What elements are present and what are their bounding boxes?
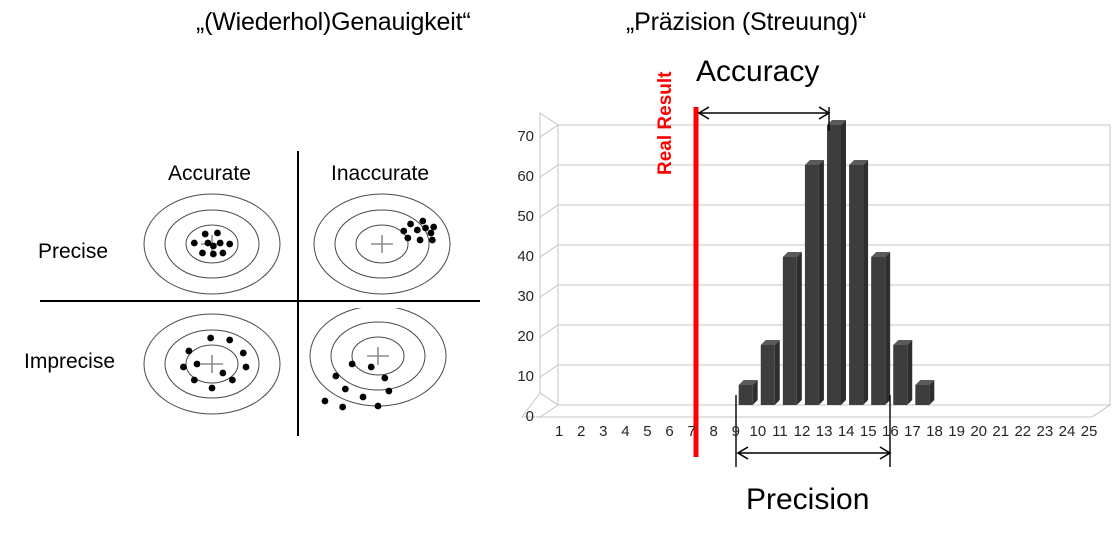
x-axis-tick-label: 24 [1056, 423, 1078, 440]
bar[interactable] [893, 345, 907, 405]
shot-dot [419, 218, 426, 225]
shot-dot [217, 240, 224, 247]
shot-dot [375, 403, 382, 410]
y-axis-tick-label: 70 [504, 128, 534, 145]
shot-dot [199, 250, 206, 257]
right-panel-title: „Präzision (Streuung)“ [626, 8, 866, 37]
x-axis-tick-label: 6 [659, 423, 681, 440]
shot-dot [349, 361, 356, 368]
x-axis-tick-label: 18 [924, 423, 946, 440]
y-axis-tick-label: 0 [504, 408, 534, 425]
bar-side-face [797, 252, 802, 405]
x-axis-tick-label: 12 [791, 423, 813, 440]
bar-side-face [907, 340, 912, 405]
x-axis-tick-label: 9 [725, 423, 747, 440]
target-accurate-imprecise [142, 312, 282, 416]
bar[interactable] [915, 385, 929, 405]
shot-dot [210, 243, 217, 250]
x-axis-tick-label: 16 [879, 423, 901, 440]
shot-dot [339, 404, 346, 411]
shot-dot [404, 235, 411, 242]
bar-side-face [863, 160, 868, 405]
x-axis-tick-label: 2 [570, 423, 592, 440]
shot-dot [322, 398, 329, 405]
bar-side-face [775, 340, 780, 405]
left-panel-title: „(Wiederhol)Genauigkeit“ [196, 8, 470, 37]
x-axis-tick-label: 3 [592, 423, 614, 440]
bar-side-face [885, 252, 890, 405]
center-crosshair-icon [371, 235, 393, 253]
shot-dot [428, 230, 435, 237]
accuracy-annotation-label: Accuracy [696, 55, 819, 89]
shot-dot [422, 225, 429, 232]
shot-dot [185, 348, 192, 355]
shot-dot [381, 375, 388, 382]
histogram-chart: Accuracy Precision Real Result [500, 55, 1120, 533]
shot-dot [191, 240, 198, 247]
shot-dot [240, 350, 247, 357]
quadrant-vertical-divider [297, 151, 299, 436]
shot-dot [342, 386, 349, 393]
shot-dot [429, 237, 436, 244]
slide-canvas: „(Wiederhol)Genauigkeit“ „Präzision (Str… [0, 0, 1120, 533]
shot-dot [332, 373, 339, 380]
x-axis-tick-label: 5 [636, 423, 658, 440]
x-axis-tick-label: 23 [1034, 423, 1056, 440]
bar[interactable] [761, 345, 775, 405]
shot-cluster [400, 218, 437, 244]
quadrant-horizontal-divider [40, 300, 480, 302]
y-axis-tick-label: 10 [504, 368, 534, 385]
shot-dot [368, 364, 375, 371]
shot-dot [194, 361, 201, 368]
shot-dot [414, 227, 421, 234]
row-header-precise: Precise [38, 240, 108, 264]
shot-dot [417, 237, 424, 244]
x-axis-tick-label: 11 [769, 423, 791, 440]
x-axis-tick-label: 19 [946, 423, 968, 440]
y-axis-tick-label: 50 [504, 208, 534, 225]
row-header-imprecise: Imprecise [24, 350, 115, 374]
column-header-inaccurate: Inaccurate [331, 162, 429, 186]
bar-side-face [819, 160, 824, 405]
bar[interactable] [827, 125, 841, 405]
real-result-annotation-label: Real Result [655, 72, 677, 175]
target-inaccurate-imprecise [300, 308, 470, 436]
shot-dot [407, 221, 414, 228]
shot-dot [207, 335, 214, 342]
x-axis-tick-label: 4 [614, 423, 636, 440]
x-axis-tick-label: 17 [901, 423, 923, 440]
x-axis-tick-label: 15 [857, 423, 879, 440]
x-axis-tick-label: 1 [548, 423, 570, 440]
shot-dot [430, 224, 437, 231]
shot-dot [229, 377, 236, 384]
center-crosshair-icon [367, 347, 389, 365]
plot-area [500, 55, 1120, 475]
y-axis-tick-label: 40 [504, 248, 534, 265]
shot-dot [210, 251, 217, 258]
x-axis-tick-label: 22 [1012, 423, 1034, 440]
shot-dot [226, 241, 233, 248]
bar[interactable] [739, 385, 753, 405]
precision-annotation-label: Precision [746, 483, 869, 517]
x-axis-tick-label: 21 [990, 423, 1012, 440]
x-axis-tick-label: 8 [703, 423, 725, 440]
shot-dot [226, 337, 233, 344]
center-crosshair-icon [201, 355, 223, 373]
y-axis-tick-label: 30 [504, 288, 534, 305]
bar[interactable] [849, 165, 863, 405]
y-axis-tick-label: 60 [504, 168, 534, 185]
shot-dot [400, 228, 407, 235]
target-accurate-precise [142, 192, 282, 296]
x-axis-tick-label: 20 [968, 423, 990, 440]
shot-dot [385, 388, 392, 395]
x-axis-tick-label: 13 [813, 423, 835, 440]
shot-dot [360, 394, 367, 401]
shot-dot [191, 377, 198, 384]
accuracy-precision-quadrant-diagram: Accurate Inaccurate Precise Imprecise [0, 140, 480, 440]
bar[interactable] [783, 257, 797, 405]
shot-cluster [322, 361, 393, 411]
bar-side-face [841, 120, 846, 405]
x-axis-tick-label: 25 [1078, 423, 1100, 440]
bar[interactable] [805, 165, 819, 405]
bar[interactable] [871, 257, 885, 405]
shot-dot [202, 231, 209, 238]
target-inaccurate-precise [312, 192, 452, 296]
shot-dot [214, 230, 221, 237]
shot-cluster [191, 230, 233, 258]
x-axis-tick-label: 10 [747, 423, 769, 440]
shot-dot [219, 250, 226, 257]
x-axis-tick-label: 14 [835, 423, 857, 440]
shot-dot [209, 385, 216, 392]
shot-dot [243, 364, 250, 371]
chart-left-wall [540, 113, 558, 405]
shot-dot [180, 364, 187, 371]
x-axis-tick-label: 7 [681, 423, 703, 440]
column-header-accurate: Accurate [168, 162, 251, 186]
y-axis-tick-label: 20 [504, 328, 534, 345]
shot-dot [219, 370, 226, 377]
